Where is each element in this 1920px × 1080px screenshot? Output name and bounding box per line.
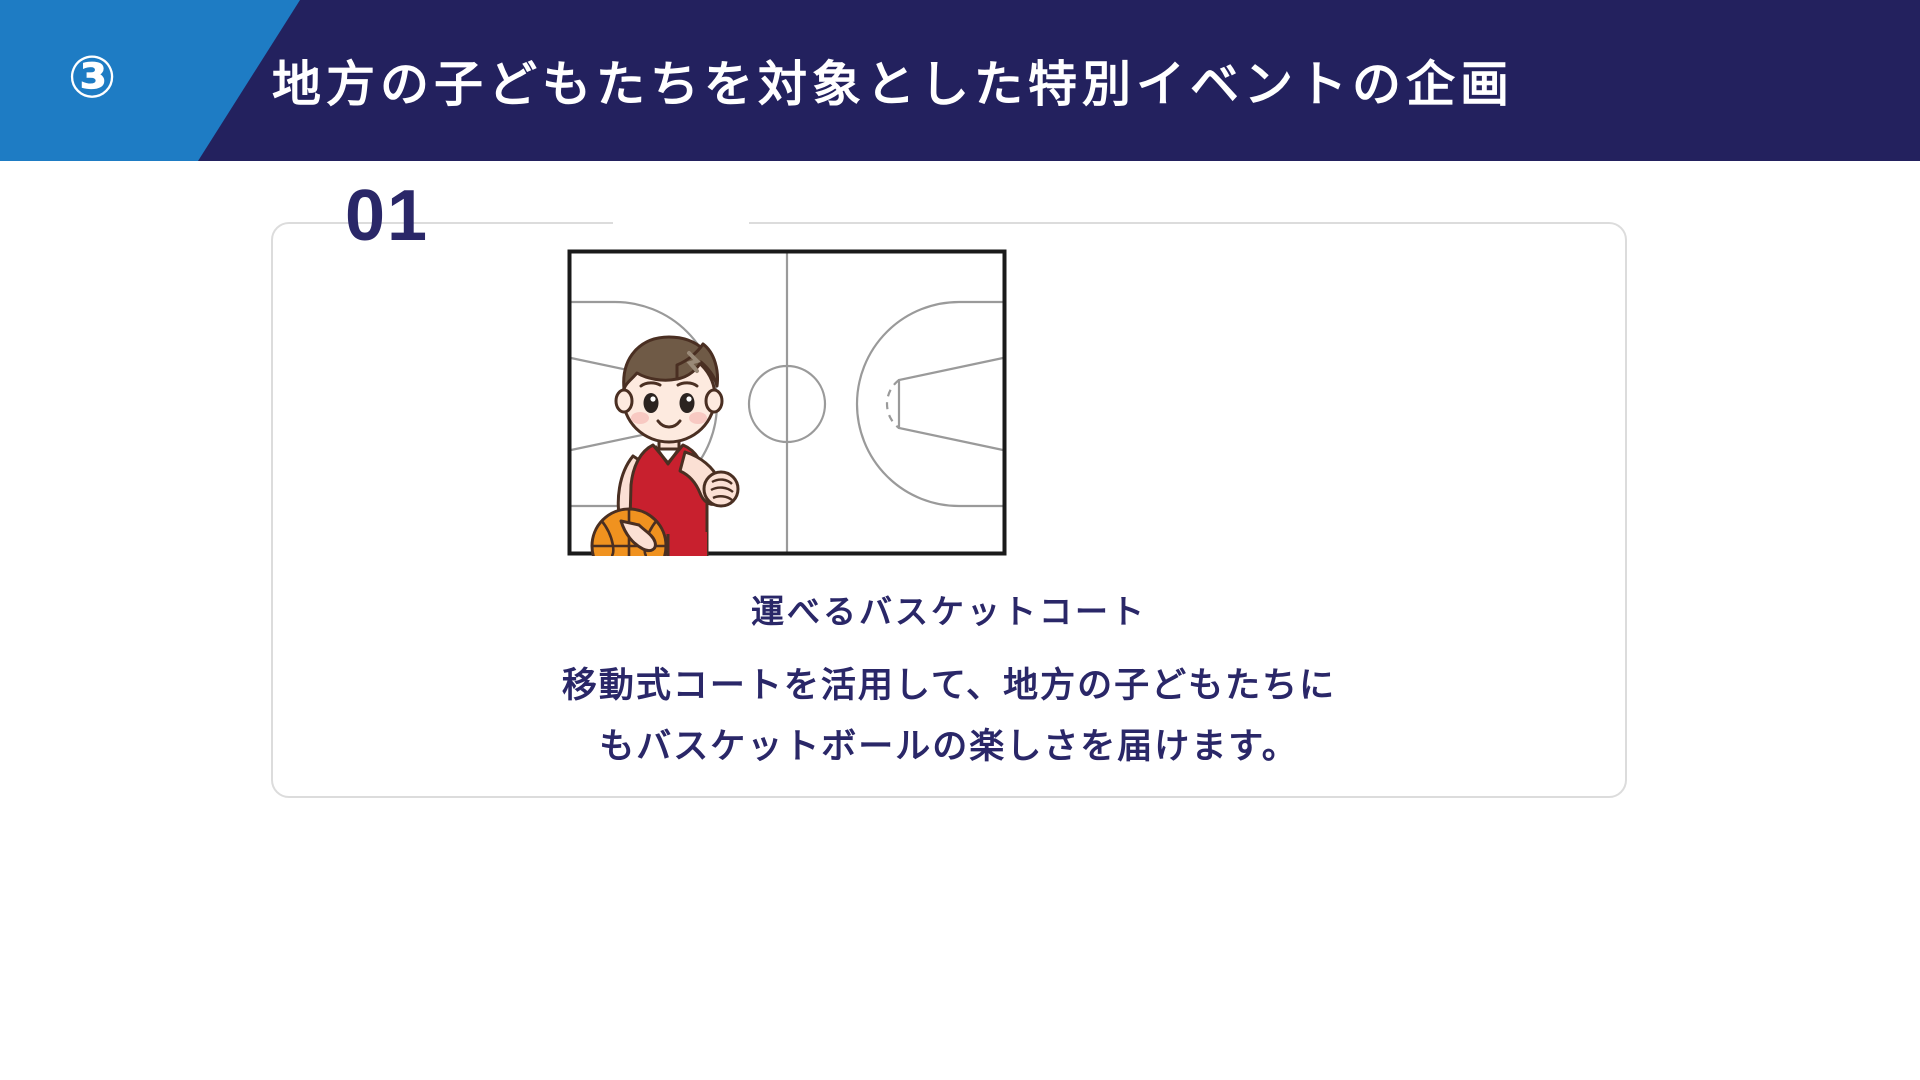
page-title: 地方の子どもたちを対象とした特別イベントの企画 <box>272 0 1514 161</box>
card-number-label: 01 <box>345 180 429 252</box>
slide-page: ③ 地方の子どもたちを対象とした特別イベントの企画 01 <box>0 0 1920 1080</box>
step-badge: ③ <box>48 35 136 125</box>
card-description: 移動式コートを活用して、地方の子どもたちに もバスケットボールの楽しさを届けます… <box>271 655 1627 778</box>
card-caption: 運べるバスケットコート <box>271 585 1627 633</box>
header-accent-shape <box>0 0 300 161</box>
basketball-court-illustration <box>567 249 1007 556</box>
step-badge-number: ③ <box>67 49 116 111</box>
card-description-line-1: 移動式コートを活用して、地方の子どもたちに <box>271 655 1627 716</box>
card-description-line-2: もバスケットボールの楽しさを届けます。 <box>271 716 1627 777</box>
card-border-gap <box>613 220 749 230</box>
slide-header: ③ 地方の子どもたちを対象とした特別イベントの企画 <box>0 0 1920 161</box>
